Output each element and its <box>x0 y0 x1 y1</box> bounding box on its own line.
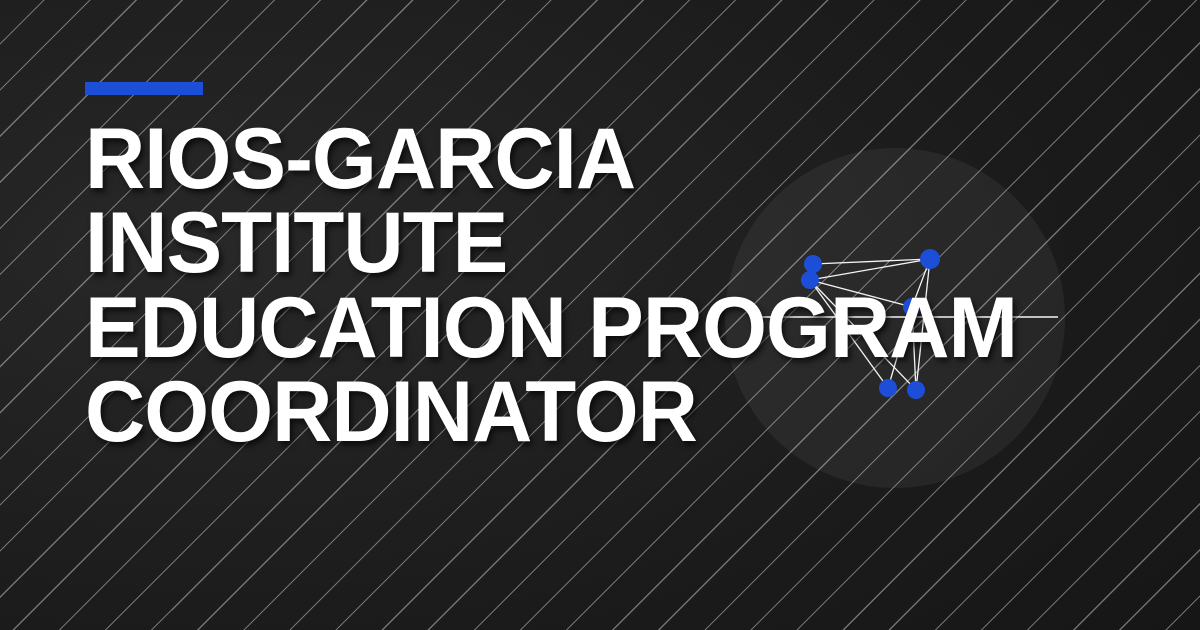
social-card: RIOS-GARCIA INSTITUTE EDUCATION PROGRAM … <box>0 0 1200 630</box>
page-title: RIOS-GARCIA INSTITUTE EDUCATION PROGRAM … <box>85 117 1113 454</box>
card-content: RIOS-GARCIA INSTITUTE EDUCATION PROGRAM … <box>85 82 1145 454</box>
accent-bar <box>85 82 203 95</box>
